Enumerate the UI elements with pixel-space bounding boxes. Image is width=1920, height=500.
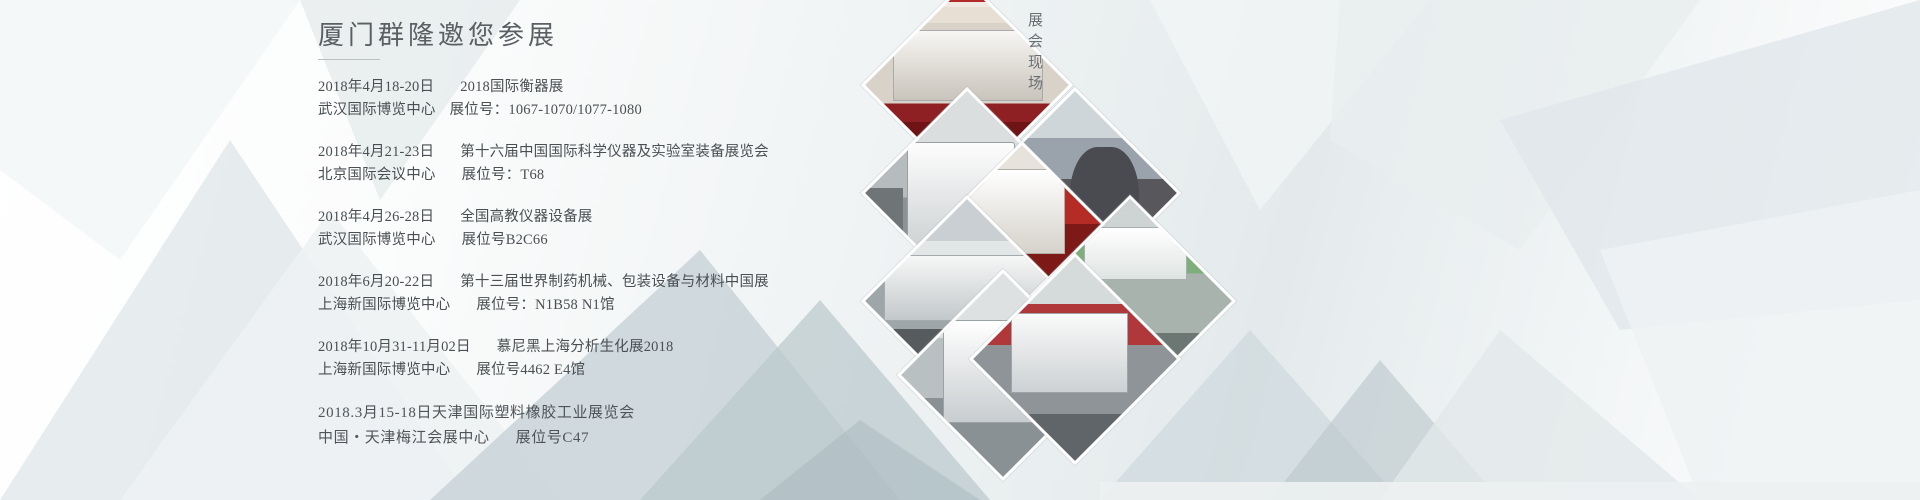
exhibition-booth: 展位号4462 E4馆 bbox=[476, 362, 585, 378]
exhibition-name: 第十三届世界制药机械、包装设备与材料中国展 bbox=[460, 274, 769, 290]
exhibition-date: 2018年4月21-23日 bbox=[318, 144, 434, 160]
exhibition-venue: 上海新国际博览中心 bbox=[318, 297, 450, 313]
exhibition-booth: 展位号C47 bbox=[516, 430, 590, 446]
exhibition-line-venue: 中国・天津梅江会展中心展位号C47 bbox=[318, 426, 938, 451]
exhibition-name: 2018国际衡器展 bbox=[460, 79, 563, 95]
exhibition-booth: 展位号B2C66 bbox=[462, 232, 548, 248]
exhibition-name: 第十六届中国国际科学仪器及实验室装备展览会 bbox=[460, 144, 769, 160]
exhibition-venue: 上海新国际博览中心 bbox=[318, 362, 450, 378]
exhibition-name: 慕尼黑上海分析生化展2018 bbox=[497, 339, 674, 355]
exhibition-date: 2018年4月26-28日 bbox=[318, 209, 434, 225]
exhibition-venue: 北京国际会议中心 bbox=[318, 167, 436, 183]
exhibition-name: 全国高教仪器设备展 bbox=[460, 209, 592, 225]
exhibition-venue: 武汉国际博览中心 bbox=[318, 232, 436, 248]
photo-collage bbox=[840, 0, 1260, 420]
vertical-caption: 展会现场 bbox=[1022, 12, 1046, 96]
exhibition-venue: 武汉国际博览中心 bbox=[318, 102, 436, 118]
banner-stage: 厦门群隆邀您参展 2018年4月18-20日2018国际衡器展 武汉国际博览中心… bbox=[0, 0, 1920, 500]
exhibition-venue: 中国・天津梅江会展中心 bbox=[318, 430, 490, 446]
exhibition-booth: 展位号：N1B58 N1馆 bbox=[476, 297, 614, 313]
title-underline bbox=[318, 59, 380, 60]
exhibition-booth: 展位号：T68 bbox=[462, 167, 545, 183]
exhibition-date: 2018年4月18-20日 bbox=[318, 79, 434, 95]
exhibition-date: 2018年10月31-11月02日 bbox=[318, 339, 471, 355]
exhibition-date: 2018年6月20-22日 bbox=[318, 274, 434, 290]
exhibition-booth: 展位号：1067-1070/1077-1080 bbox=[450, 102, 642, 118]
